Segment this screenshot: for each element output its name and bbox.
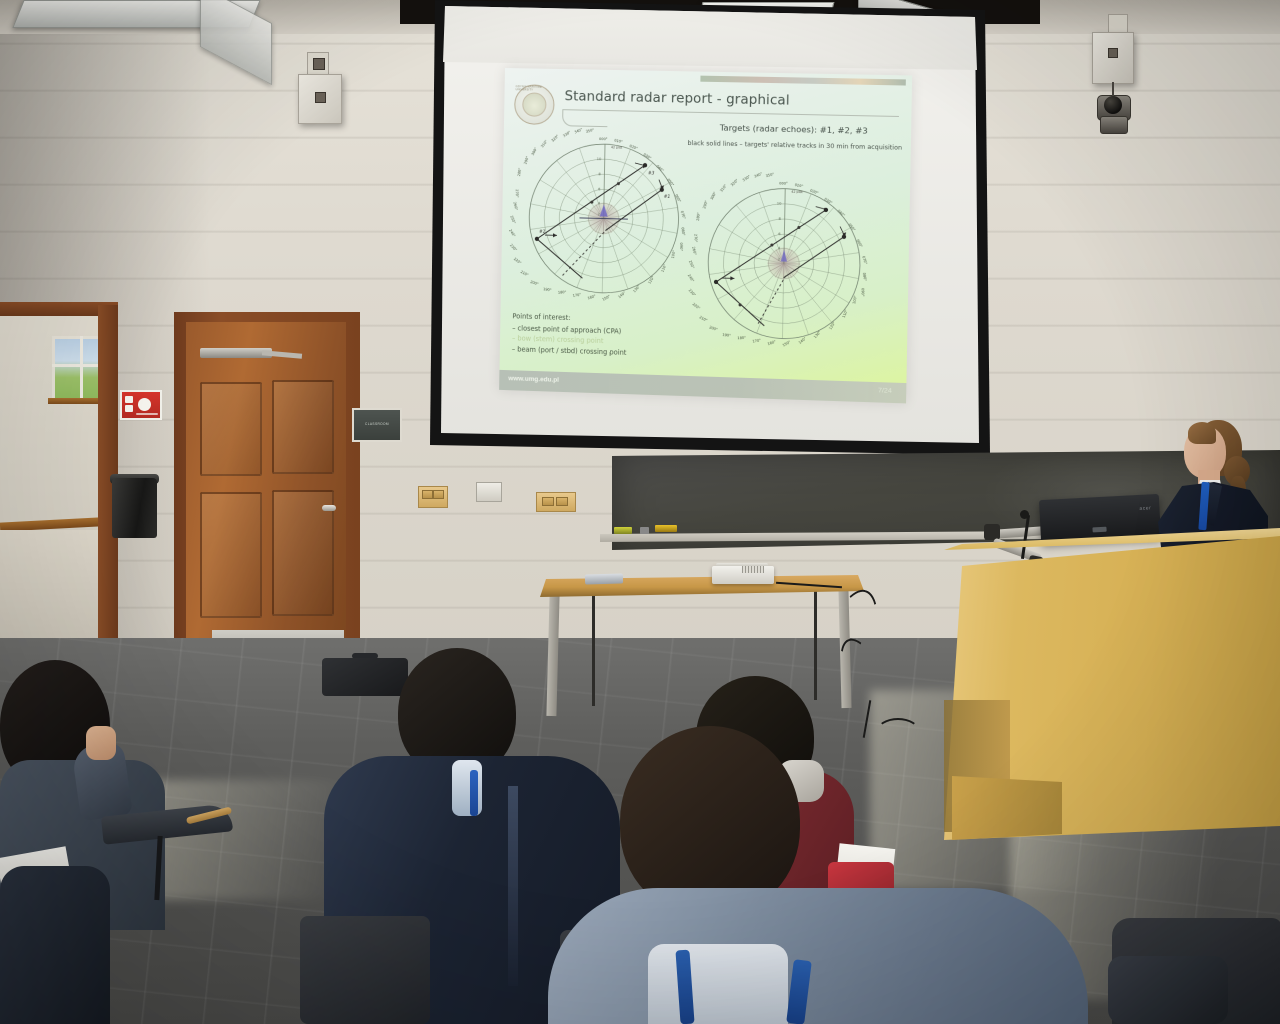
svg-text:180°: 180° [737, 336, 746, 340]
svg-text:110°: 110° [660, 263, 667, 273]
presenter-hair-front [1188, 422, 1216, 444]
svg-text:2: 2 [778, 257, 780, 261]
svg-text:010°: 010° [794, 183, 804, 189]
poi-item-cpa: – closest point of approach (CPA) [512, 324, 621, 335]
svg-text:230°: 230° [688, 288, 697, 297]
svg-text:10: 10 [777, 202, 782, 206]
svg-text:320°: 320° [730, 178, 739, 187]
slide-page-number: 7/24 [878, 387, 892, 395]
sign-pictogram [125, 396, 133, 403]
svg-text:#1: #1 [539, 229, 546, 235]
slide-footer-url: www.umg.edu.pl [508, 375, 559, 384]
microphone-icon [1020, 510, 1029, 519]
wall-speaker-right [1092, 32, 1134, 84]
svg-text:42 plot: 42 plot [791, 190, 803, 194]
svg-text:040°: 040° [837, 209, 846, 218]
speaker-grill [315, 92, 326, 103]
svg-text:310°: 310° [719, 183, 728, 192]
svg-text:110°: 110° [842, 309, 849, 319]
sign-pictogram [125, 405, 133, 412]
svg-text:140°: 140° [798, 336, 807, 345]
svg-text:140°: 140° [617, 291, 626, 300]
svg-text:150°: 150° [782, 340, 792, 348]
fire-safety-sign [120, 390, 162, 420]
audience-hand [86, 726, 116, 760]
svg-text:070°: 070° [680, 210, 687, 220]
svg-text:300°: 300° [710, 191, 718, 201]
svg-text:250°: 250° [688, 260, 695, 270]
camera-stem [1112, 82, 1114, 96]
audience-collar [648, 944, 788, 1024]
svg-text:350°: 350° [765, 172, 775, 178]
svg-text:000°: 000° [599, 137, 608, 141]
jacket-seam [508, 786, 518, 986]
radar-ppi-left: #1 #3 #1 108 642 000° 010° 020° 030° 040… [507, 124, 702, 310]
svg-text:000°: 000° [779, 181, 788, 185]
door-handle[interactable] [322, 505, 336, 511]
svg-text:#3: #3 [648, 170, 655, 176]
svg-text:200°: 200° [709, 325, 719, 332]
slide-note-line: black solid lines – targets' relative tr… [681, 140, 909, 154]
audience-torso [548, 888, 1088, 1024]
svg-text:300°: 300° [531, 147, 539, 157]
svg-text:040°: 040° [655, 164, 664, 173]
svg-text:270°: 270° [515, 189, 519, 198]
svg-text:240°: 240° [687, 273, 695, 283]
svg-text:160°: 160° [587, 294, 597, 301]
lectern-shelf [952, 776, 1062, 840]
svg-text:220°: 220° [692, 302, 701, 311]
svg-text:340°: 340° [754, 172, 764, 179]
svg-text:170°: 170° [752, 338, 761, 344]
svg-text:150°: 150° [602, 294, 612, 302]
svg-text:6: 6 [598, 187, 601, 191]
door-panel [200, 382, 262, 476]
speaker-mount [1108, 14, 1128, 34]
door-panel [272, 380, 334, 474]
svg-text:090°: 090° [861, 288, 865, 297]
monitor-power-led [1092, 527, 1106, 533]
camera-lens-icon [1104, 96, 1122, 114]
svg-text:210°: 210° [699, 315, 709, 323]
svg-text:080°: 080° [862, 272, 867, 281]
svg-text:250°: 250° [509, 215, 516, 225]
svg-text:230°: 230° [509, 243, 518, 252]
svg-text:270°: 270° [693, 234, 698, 243]
svg-text:320°: 320° [551, 134, 560, 143]
audience-member-lower [0, 866, 110, 1024]
svg-text:260°: 260° [691, 246, 697, 255]
svg-text:070°: 070° [861, 256, 868, 266]
svg-text:2: 2 [598, 212, 600, 216]
svg-text:220°: 220° [513, 257, 522, 265]
svg-text:340°: 340° [574, 127, 584, 134]
poi-item-beam-crossing: – beam (port / stbd) crossing point [512, 345, 627, 357]
projection-screen-highlight [441, 6, 979, 70]
classroom-plaque-label: CLASSROOM [354, 422, 400, 426]
radar-ppi-right: 108 642 000° 010° 020° 030° 040° 050° 06… [685, 168, 883, 356]
svg-text:290°: 290° [702, 200, 708, 210]
sign-emblem-icon [138, 398, 151, 411]
svg-text:350°: 350° [585, 128, 594, 134]
waste-bin [112, 478, 157, 538]
svg-text:120°: 120° [828, 321, 836, 331]
svg-text:330°: 330° [562, 130, 571, 138]
chalk-eraser [614, 527, 632, 534]
svg-text:6: 6 [778, 232, 781, 236]
speaker-grill [1108, 48, 1118, 58]
svg-text:080°: 080° [680, 227, 685, 236]
speaker-grill [313, 58, 325, 70]
svg-text:030°: 030° [643, 153, 653, 161]
lanyard [470, 770, 478, 816]
slide-targets-line: Targets (radar echoes): #1, #2, #3 [683, 122, 905, 137]
svg-text:280°: 280° [517, 167, 522, 176]
table-leg [814, 590, 817, 700]
svg-text:210°: 210° [520, 270, 530, 278]
svg-text:060°: 060° [674, 194, 682, 204]
monitor-arm-joint[interactable] [984, 524, 1000, 540]
cable-coil [876, 718, 920, 746]
camera-base [1100, 116, 1128, 134]
sign-text-line [136, 413, 158, 415]
seal-text: GDYNIA MARITIME UNIVERSITY [515, 85, 554, 124]
svg-text:130°: 130° [813, 330, 822, 339]
device-on-table[interactable] [585, 574, 623, 585]
slide-title: Standard radar report - graphical [564, 89, 901, 111]
svg-text:160°: 160° [767, 340, 777, 347]
svg-text:010°: 010° [614, 138, 623, 144]
svg-text:190°: 190° [543, 287, 552, 292]
svg-text:100°: 100° [852, 295, 858, 304]
table-leg [592, 594, 595, 706]
wall-jack[interactable] [433, 490, 444, 499]
svg-text:10: 10 [597, 157, 602, 161]
svg-text:130°: 130° [632, 284, 641, 293]
presentation-slide: GDYNIA MARITIME UNIVERSITY Standard rada… [499, 68, 912, 403]
svg-text:330°: 330° [742, 174, 752, 182]
chair-seat[interactable] [1108, 956, 1228, 1024]
svg-text:#1: #1 [664, 194, 671, 200]
window-mullion [80, 336, 83, 398]
svg-text:030°: 030° [824, 197, 834, 205]
svg-text:42 plot: 42 plot [611, 145, 623, 149]
svg-text:060°: 060° [855, 239, 863, 249]
wall-jack[interactable] [556, 497, 568, 506]
lecture-hall-photo: GDYNIA MARITIME UNIVERSITY Standard rada… [0, 0, 1280, 1024]
chalk-piece [640, 527, 649, 534]
svg-text:100°: 100° [671, 249, 677, 258]
svg-text:170°: 170° [572, 292, 581, 298]
svg-text:090°: 090° [679, 243, 683, 252]
wall-outlet[interactable] [476, 482, 502, 502]
poi-item-bow-crossing: – bow (stem) crossing point [512, 335, 604, 346]
svg-text:260°: 260° [513, 202, 519, 211]
classroom-plaque: CLASSROOM [352, 408, 402, 442]
svg-text:290°: 290° [523, 155, 529, 164]
svg-text:190°: 190° [722, 333, 731, 338]
svg-text:180°: 180° [558, 290, 567, 294]
wall-jack[interactable] [542, 497, 554, 506]
wall-jack[interactable] [422, 490, 433, 499]
svg-text:200°: 200° [530, 280, 539, 286]
chair[interactable] [300, 916, 430, 1024]
equipment-case [322, 658, 408, 696]
projector-vent [742, 566, 764, 573]
chalk-eraser [655, 525, 677, 532]
svg-text:310°: 310° [540, 139, 548, 148]
svg-text:240°: 240° [508, 229, 516, 238]
svg-text:120°: 120° [647, 275, 655, 285]
points-of-interest-block: Points of interest: – closest point of a… [512, 311, 627, 358]
door-panel [200, 492, 262, 618]
svg-text:280°: 280° [696, 212, 701, 221]
poi-heading: Points of interest: [512, 311, 627, 325]
slide-title-rule [562, 109, 899, 117]
university-seal-logo: GDYNIA MARITIME UNIVERSITY [514, 84, 555, 125]
slide-accent-bar [700, 76, 905, 86]
